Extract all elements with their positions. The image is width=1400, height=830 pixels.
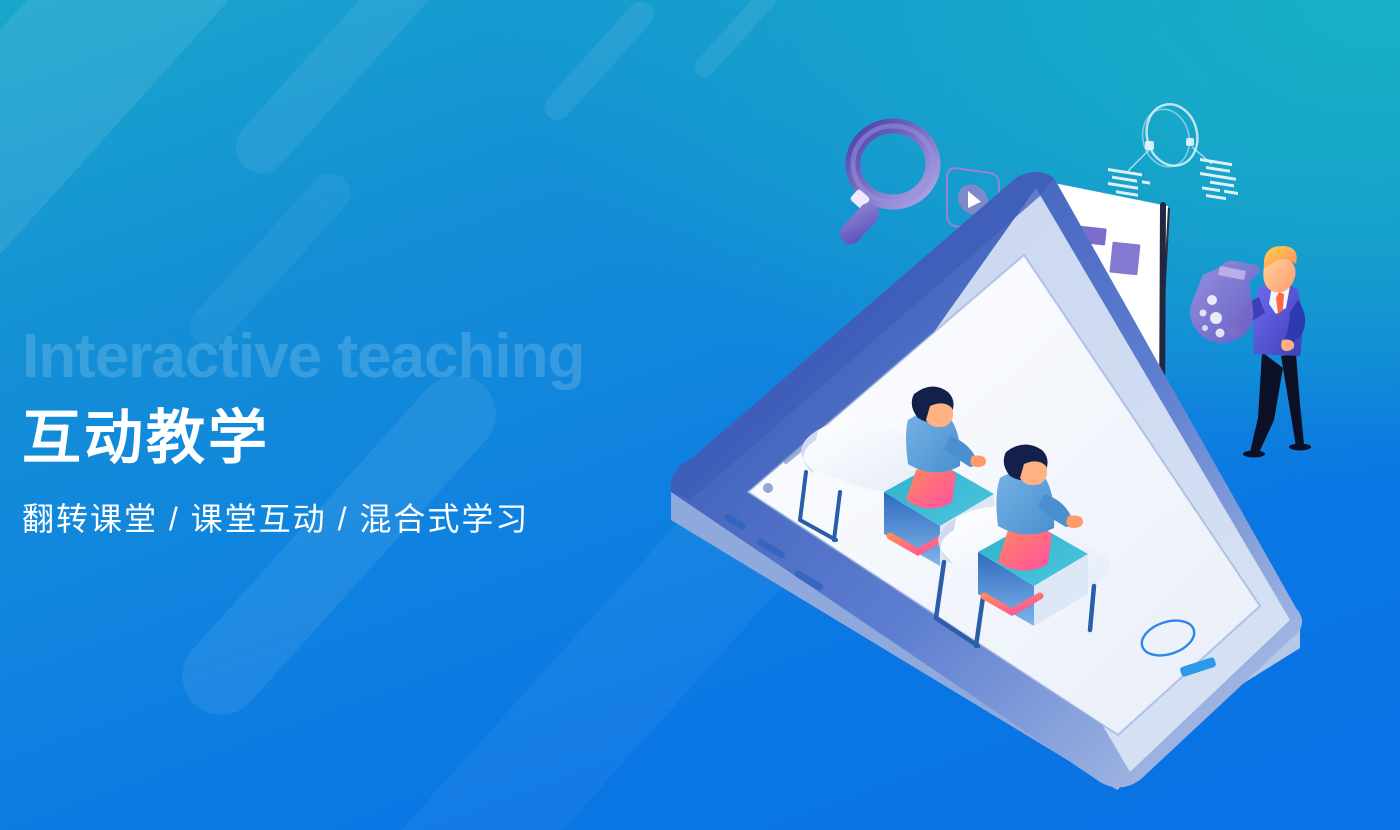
magnifier-icon (836, 126, 933, 249)
hero-illustration (0, 0, 1400, 830)
teacher-holding-flask (1190, 246, 1311, 458)
idea-ring-diagram (1108, 99, 1238, 206)
hero-banner: Interactive teaching 互动教学 翻转课堂 / 课堂互动 / … (0, 0, 1400, 830)
isometric-tablet-device (671, 172, 1302, 790)
